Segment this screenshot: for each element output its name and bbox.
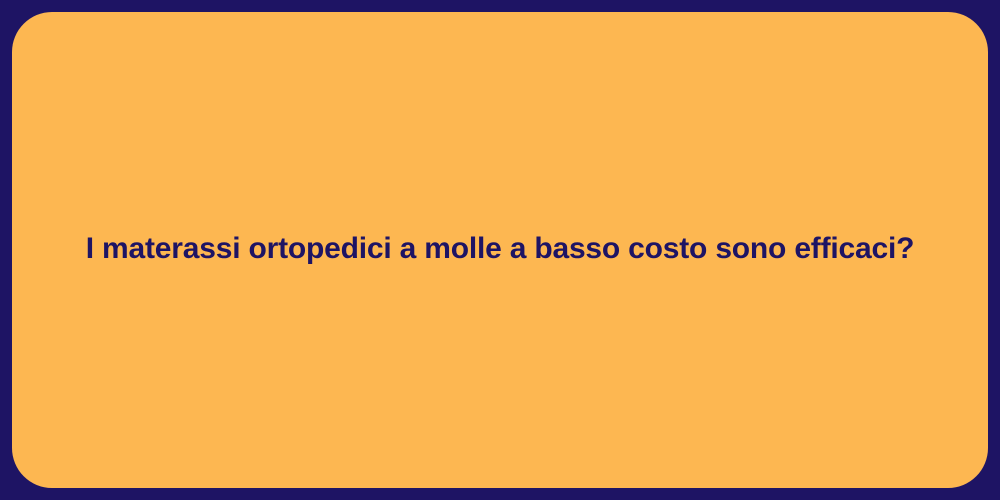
- page-frame: I materassi ortopedici a molle a basso c…: [0, 0, 1000, 500]
- page-title: I materassi ortopedici a molle a basso c…: [12, 231, 988, 268]
- question-card: I materassi ortopedici a molle a basso c…: [12, 12, 988, 488]
